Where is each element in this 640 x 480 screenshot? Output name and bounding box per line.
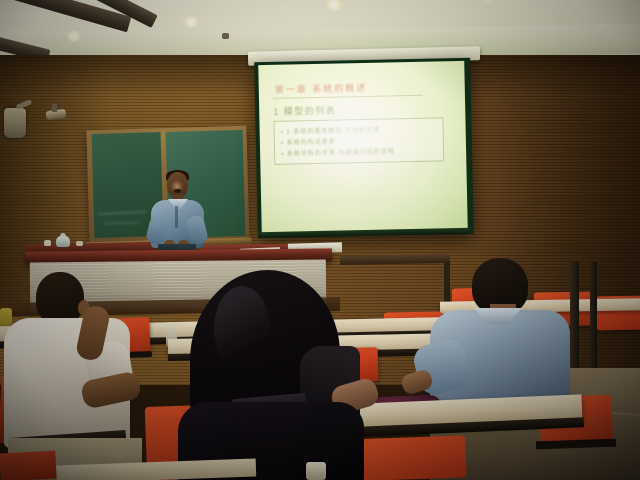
partition-post [590, 262, 597, 382]
slide-body-line: ▪ 系统分析的步骤 与建模过程的说明 [281, 146, 395, 157]
attendee-center-hair-highlight [214, 286, 270, 372]
presenter-mouth [174, 189, 181, 193]
chair [0, 451, 57, 480]
slide-body-line: ▪ 1 系统的基本概念 与分析方法 [281, 125, 381, 136]
slide-body-line: ▪ 系统的构成要素 [281, 137, 336, 147]
attendee-center [172, 270, 372, 480]
cup-icon [76, 241, 83, 246]
slide-subtitle: 1 模型的列表 [273, 104, 336, 118]
paper-cup-icon [306, 462, 326, 480]
kettle-lid [60, 233, 66, 237]
classroom-photo: 第一章 系统的概述 1 模型的列表 ▪ 1 系统的基本概念 与分析方法 ▪ 系统… [0, 0, 640, 480]
downlight-icon [183, 16, 199, 28]
presenter-placket [175, 206, 178, 228]
attendee-right [418, 258, 588, 418]
speaker-icon [4, 108, 26, 138]
kettle-icon [56, 236, 70, 247]
slide-text-box: ▪ 1 系统的基本概念 与分析方法 ▪ 系统的构成要素 ▪ 系统分析的步骤 与建… [273, 117, 444, 165]
presenter [146, 172, 208, 256]
downlight-icon [66, 30, 82, 42]
cup-icon [44, 240, 51, 246]
slide-title: 第一章 系统的概述 [275, 81, 368, 96]
attendee-left [0, 272, 156, 480]
attendee-left-head [36, 272, 84, 324]
projection-screen-surface: 第一章 系统的概述 1 模型的列表 ▪ 1 系统的基本概念 与分析方法 ▪ 系统… [258, 61, 467, 233]
camera-mount [52, 104, 57, 112]
